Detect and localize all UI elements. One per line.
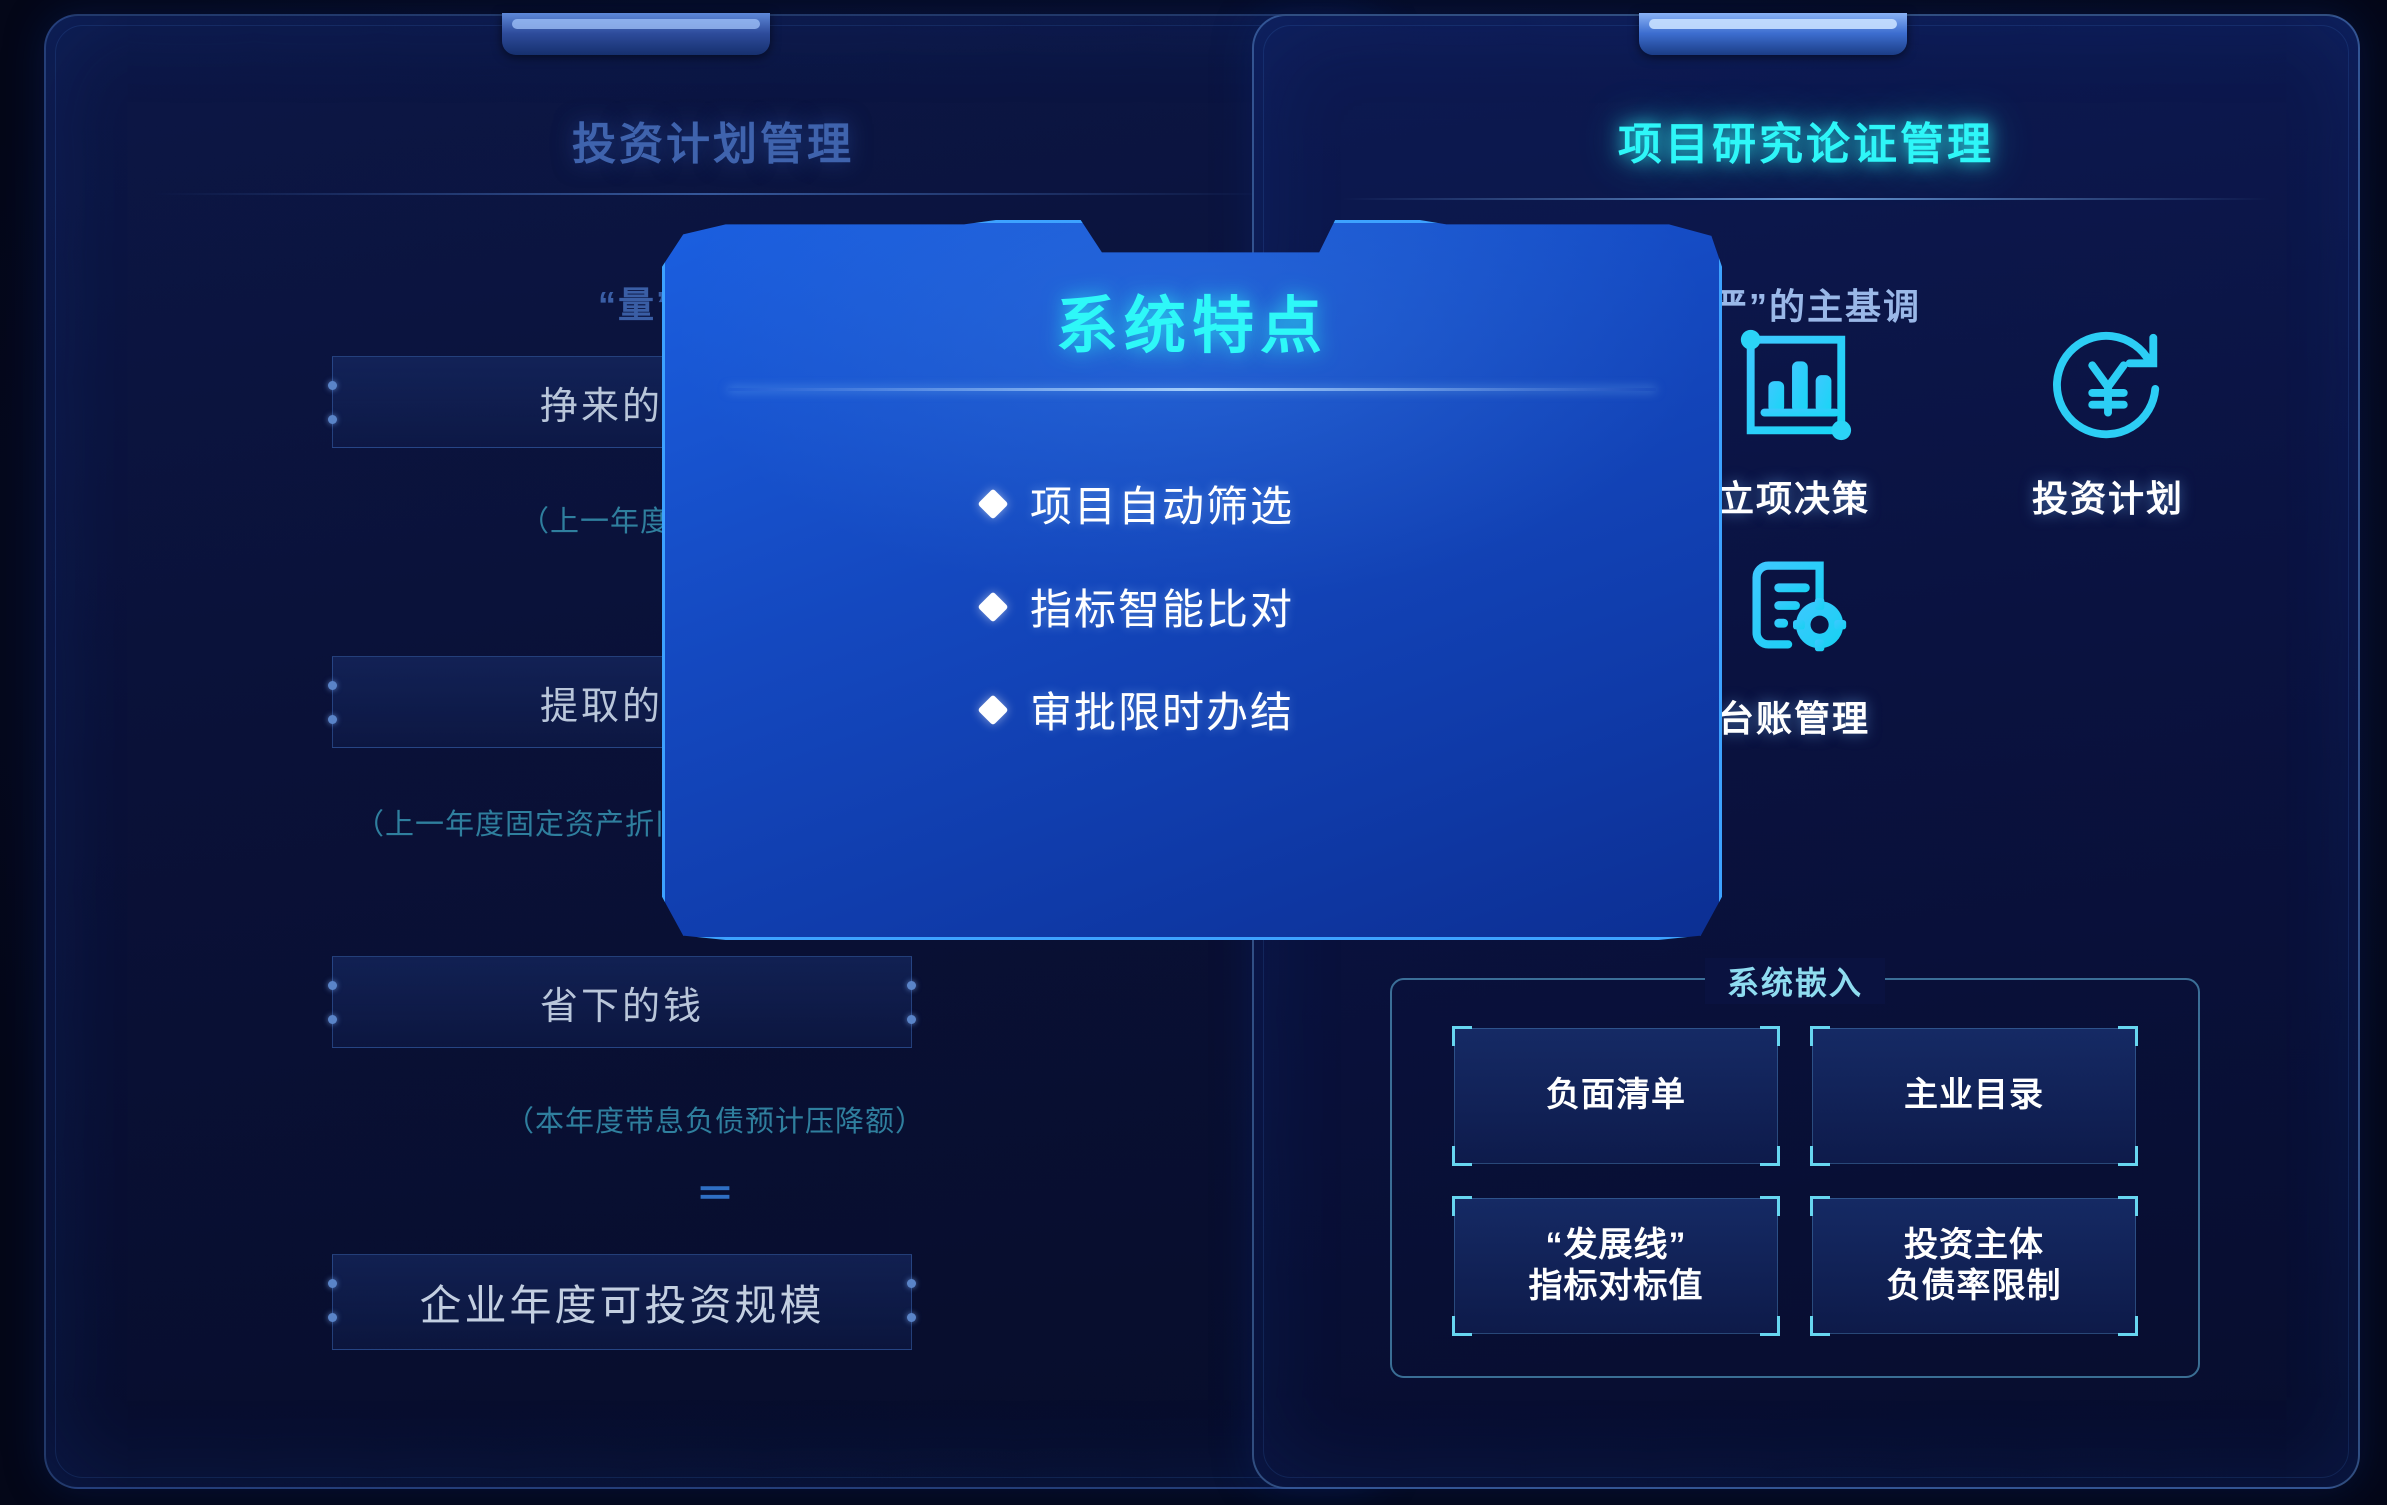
formula-operator-equals: ＝: [46, 1176, 1384, 1214]
formula-box-result[interactable]: 企业年度可投资规模: [332, 1254, 912, 1350]
corner-bracket-icon: [1760, 1316, 1780, 1336]
formula-note-saved: （本年度带息负债预计压降额）: [46, 1098, 1384, 1140]
formula-box-label: 省下的钱: [540, 975, 704, 1030]
corner-bracket-icon: [1452, 1146, 1472, 1166]
diamond-bullet-icon: [977, 694, 1008, 725]
embed-box-investor-debt-limit[interactable]: 投资主体 负债率限制: [1812, 1198, 2136, 1334]
corner-bracket-icon: [1810, 1196, 1830, 1216]
feature-list-item[interactable]: 审批限时办结: [982, 679, 1402, 740]
connector-pin: [328, 1015, 337, 1024]
system-features-card[interactable]: 系统特点 项目自动筛选 指标智能比对 审批限时办结: [662, 220, 1722, 940]
connector-pin: [328, 415, 337, 424]
connector-pin: [907, 1313, 916, 1322]
system-embed-group: 系统嵌入 负面清单 主业目录: [1390, 978, 2200, 1378]
feature-item-label: 审批限时办结: [1030, 679, 1294, 740]
feature-item-label: 项目自动筛选: [1030, 473, 1294, 534]
corner-bracket-icon: [2118, 1316, 2138, 1336]
connector-pin: [328, 381, 337, 390]
corner-bracket-icon: [2118, 1026, 2138, 1046]
box-edge: [1454, 1198, 1778, 1334]
formula-box-label: 企业年度可投资规模: [419, 1272, 824, 1333]
connector-pin: [907, 981, 916, 990]
connector-pin: [328, 1279, 337, 1288]
corner-bracket-icon: [1760, 1026, 1780, 1046]
panel-tab-notch-right: [1639, 13, 1907, 55]
feature-list-item[interactable]: 项目自动筛选: [982, 473, 1402, 534]
title-divider-right: [1342, 198, 2269, 200]
connector-pin: [328, 981, 337, 990]
corner-bracket-icon: [1760, 1146, 1780, 1166]
title-divider-left: [153, 193, 1274, 195]
corner-bracket-icon: [2118, 1196, 2138, 1216]
icon-cell-label: 投资计划: [1958, 470, 2258, 522]
system-features-divider: [728, 388, 1656, 391]
embed-box-development-line[interactable]: “发展线” 指标对标值: [1454, 1198, 1778, 1334]
slide-canvas: 投资计划管理 “量”的高标准 挣来的钱 （上一年度合并报表净利润） ＋ 提取的钱…: [0, 0, 2387, 1505]
system-features-list: 项目自动筛选 指标智能比对 审批限时办结: [665, 473, 1719, 740]
connector-pin: [328, 715, 337, 724]
icon-cell-investment-plan[interactable]: 投资计划: [1958, 300, 2258, 522]
feature-list-item[interactable]: 指标智能比对: [982, 576, 1402, 637]
diamond-bullet-icon: [977, 591, 1008, 622]
feature-item-label: 指标智能比对: [1030, 576, 1294, 637]
system-features-title: 系统特点: [665, 275, 1719, 365]
page-title-left: 投资计划管理: [46, 108, 1380, 172]
connector-pin: [907, 1279, 916, 1288]
box-edge: [1454, 1028, 1778, 1164]
connector-pin: [328, 1313, 337, 1322]
corner-bracket-icon: [1810, 1146, 1830, 1166]
connector-pin: [907, 1015, 916, 1024]
box-edge: [1812, 1198, 2136, 1334]
corner-bracket-icon: [1810, 1316, 1830, 1336]
embed-box-main-business-catalog[interactable]: 主业目录: [1812, 1028, 2136, 1164]
corner-bracket-icon: [2118, 1146, 2138, 1166]
panel-tab-notch-left: [502, 13, 770, 55]
corner-bracket-icon: [1452, 1316, 1472, 1336]
yuan-refresh-icon: [1958, 300, 2258, 470]
corner-bracket-icon: [1452, 1196, 1472, 1216]
page-title-right: 项目研究论证管理: [1254, 108, 2358, 172]
box-edge: [1812, 1028, 2136, 1164]
embed-box-negative-list[interactable]: 负面清单: [1454, 1028, 1778, 1164]
connector-pin: [328, 681, 337, 690]
formula-box-saved[interactable]: 省下的钱: [332, 956, 912, 1048]
corner-bracket-icon: [1810, 1026, 1830, 1046]
corner-bracket-icon: [1452, 1026, 1472, 1046]
diamond-bullet-icon: [977, 488, 1008, 519]
corner-bracket-icon: [1760, 1196, 1780, 1216]
